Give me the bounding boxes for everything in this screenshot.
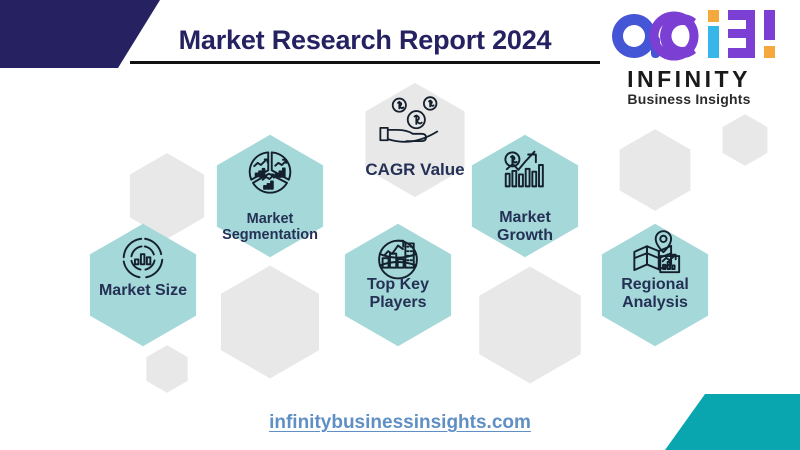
empty-hex: [620, 129, 691, 211]
hex-cell-top-key-players[interactable]: [345, 224, 451, 346]
empty-hex: [221, 266, 319, 379]
hex-shape: [345, 224, 451, 346]
hex-cell-market-size[interactable]: [90, 224, 196, 346]
hex-shape: [90, 224, 196, 346]
honeycomb-diagram: [0, 0, 800, 450]
hex-shape: [602, 224, 708, 346]
hex-cell-regional-analysis[interactable]: [602, 224, 708, 346]
empty-hex: [723, 114, 768, 166]
empty-hex: [146, 345, 187, 393]
hex-cell-cagr-value[interactable]: [365, 83, 464, 197]
hex-shape: [472, 135, 578, 257]
hex-cell-market-segmentation[interactable]: [217, 135, 323, 257]
hex-cell-market-growth[interactable]: [472, 135, 578, 257]
website-url-link[interactable]: infinitybusinessinsights.com: [0, 412, 800, 434]
empty-hex: [479, 267, 580, 384]
hex-shape: [217, 135, 323, 257]
